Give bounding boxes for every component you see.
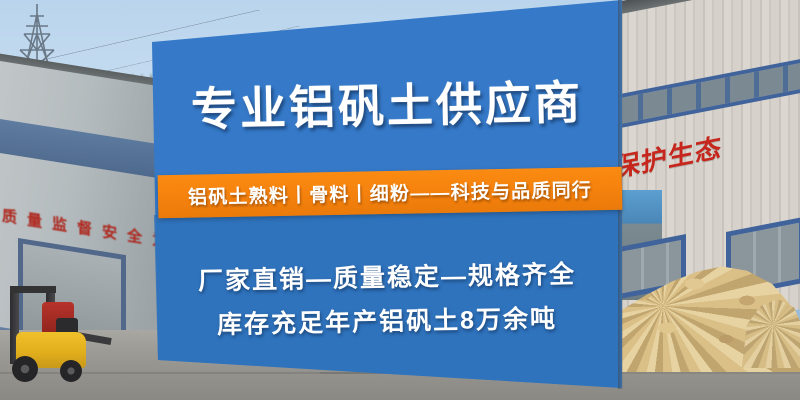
banner-headline: 专业铝矾土供应商	[152, 78, 623, 135]
banner-ribbon-text: 铝矾土熟料丨骨料丨细粉——科技与品质同行	[188, 175, 592, 209]
banner-content: 专业铝矾土供应商 铝矾土熟料丨骨料丨细粉——科技与品质同行 厂家直销—质量稳定—…	[152, 0, 622, 400]
promotional-banner: 质 量 监 督 安 全 为 首 保护生态	[0, 0, 800, 400]
banner-subline-1: 厂家直销—质量稳定—规格齐全	[152, 254, 623, 299]
banner-ribbon: 铝矾土熟料丨骨料丨细粉——科技与品质同行	[158, 167, 623, 218]
banner-subline-2: 库存充足年产铝矾土8万余吨	[152, 298, 623, 343]
